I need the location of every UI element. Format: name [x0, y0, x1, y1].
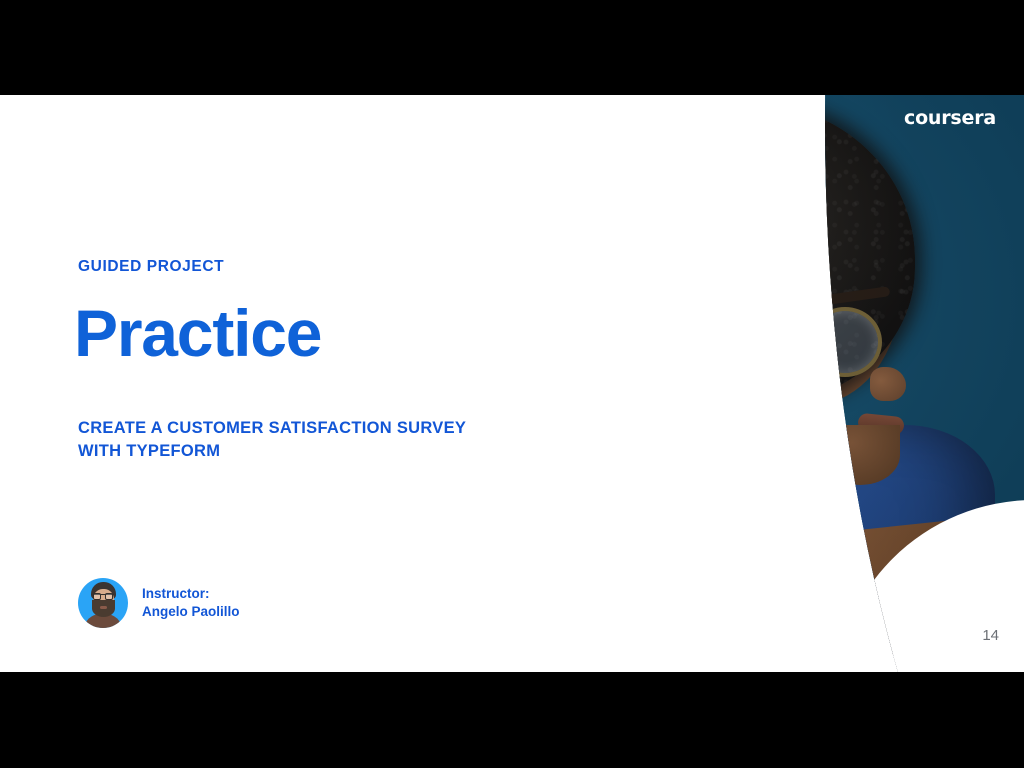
finger — [699, 585, 775, 619]
hand — [687, 519, 864, 672]
slide-eyebrow-label: GUIDED PROJECT — [78, 258, 224, 276]
instructor-block: Instructor: Angelo Paolillo — [78, 578, 240, 628]
instructor-name: Angelo Paolillo — [142, 603, 240, 621]
slide-page-number: 14 — [982, 627, 999, 644]
avatar-mouth — [100, 606, 107, 609]
slide-canvas: coursera GUIDED PROJECT Practice CREATE … — [0, 95, 1024, 672]
avatar — [78, 578, 128, 628]
coursera-logo: coursera — [904, 107, 996, 129]
neck — [714, 340, 836, 471]
slide-subtitle: CREATE A CUSTOMER SATISFACTION SURVEY WI… — [78, 417, 478, 464]
finger — [708, 614, 773, 640]
letterbox-bar-top — [0, 0, 1024, 95]
hero-photo-panel: coursera — [400, 95, 1024, 672]
glasses-temple-arm — [718, 317, 818, 330]
finger — [698, 523, 774, 578]
slide-title: Practice — [74, 300, 321, 366]
jacket-lapel — [630, 427, 781, 672]
finger — [694, 554, 776, 598]
corner-curve-cutout-2 — [804, 655, 1024, 672]
jacket-seam — [503, 441, 539, 598]
sideburn — [688, 303, 741, 377]
presentation-viewer: coursera GUIDED PROJECT Practice CREATE … — [0, 0, 1024, 768]
letterbox-bar-bottom — [0, 672, 1024, 768]
avatar-glasses-lens — [93, 593, 101, 600]
instructor-text: Instructor: Angelo Paolillo — [142, 585, 240, 621]
jacket-shoulder — [460, 430, 650, 520]
cheek-shadow — [710, 270, 820, 390]
instructor-label: Instructor: — [142, 585, 240, 603]
avatar-glasses-lens — [105, 593, 113, 600]
striped-collar — [677, 383, 842, 541]
ear — [684, 307, 736, 375]
